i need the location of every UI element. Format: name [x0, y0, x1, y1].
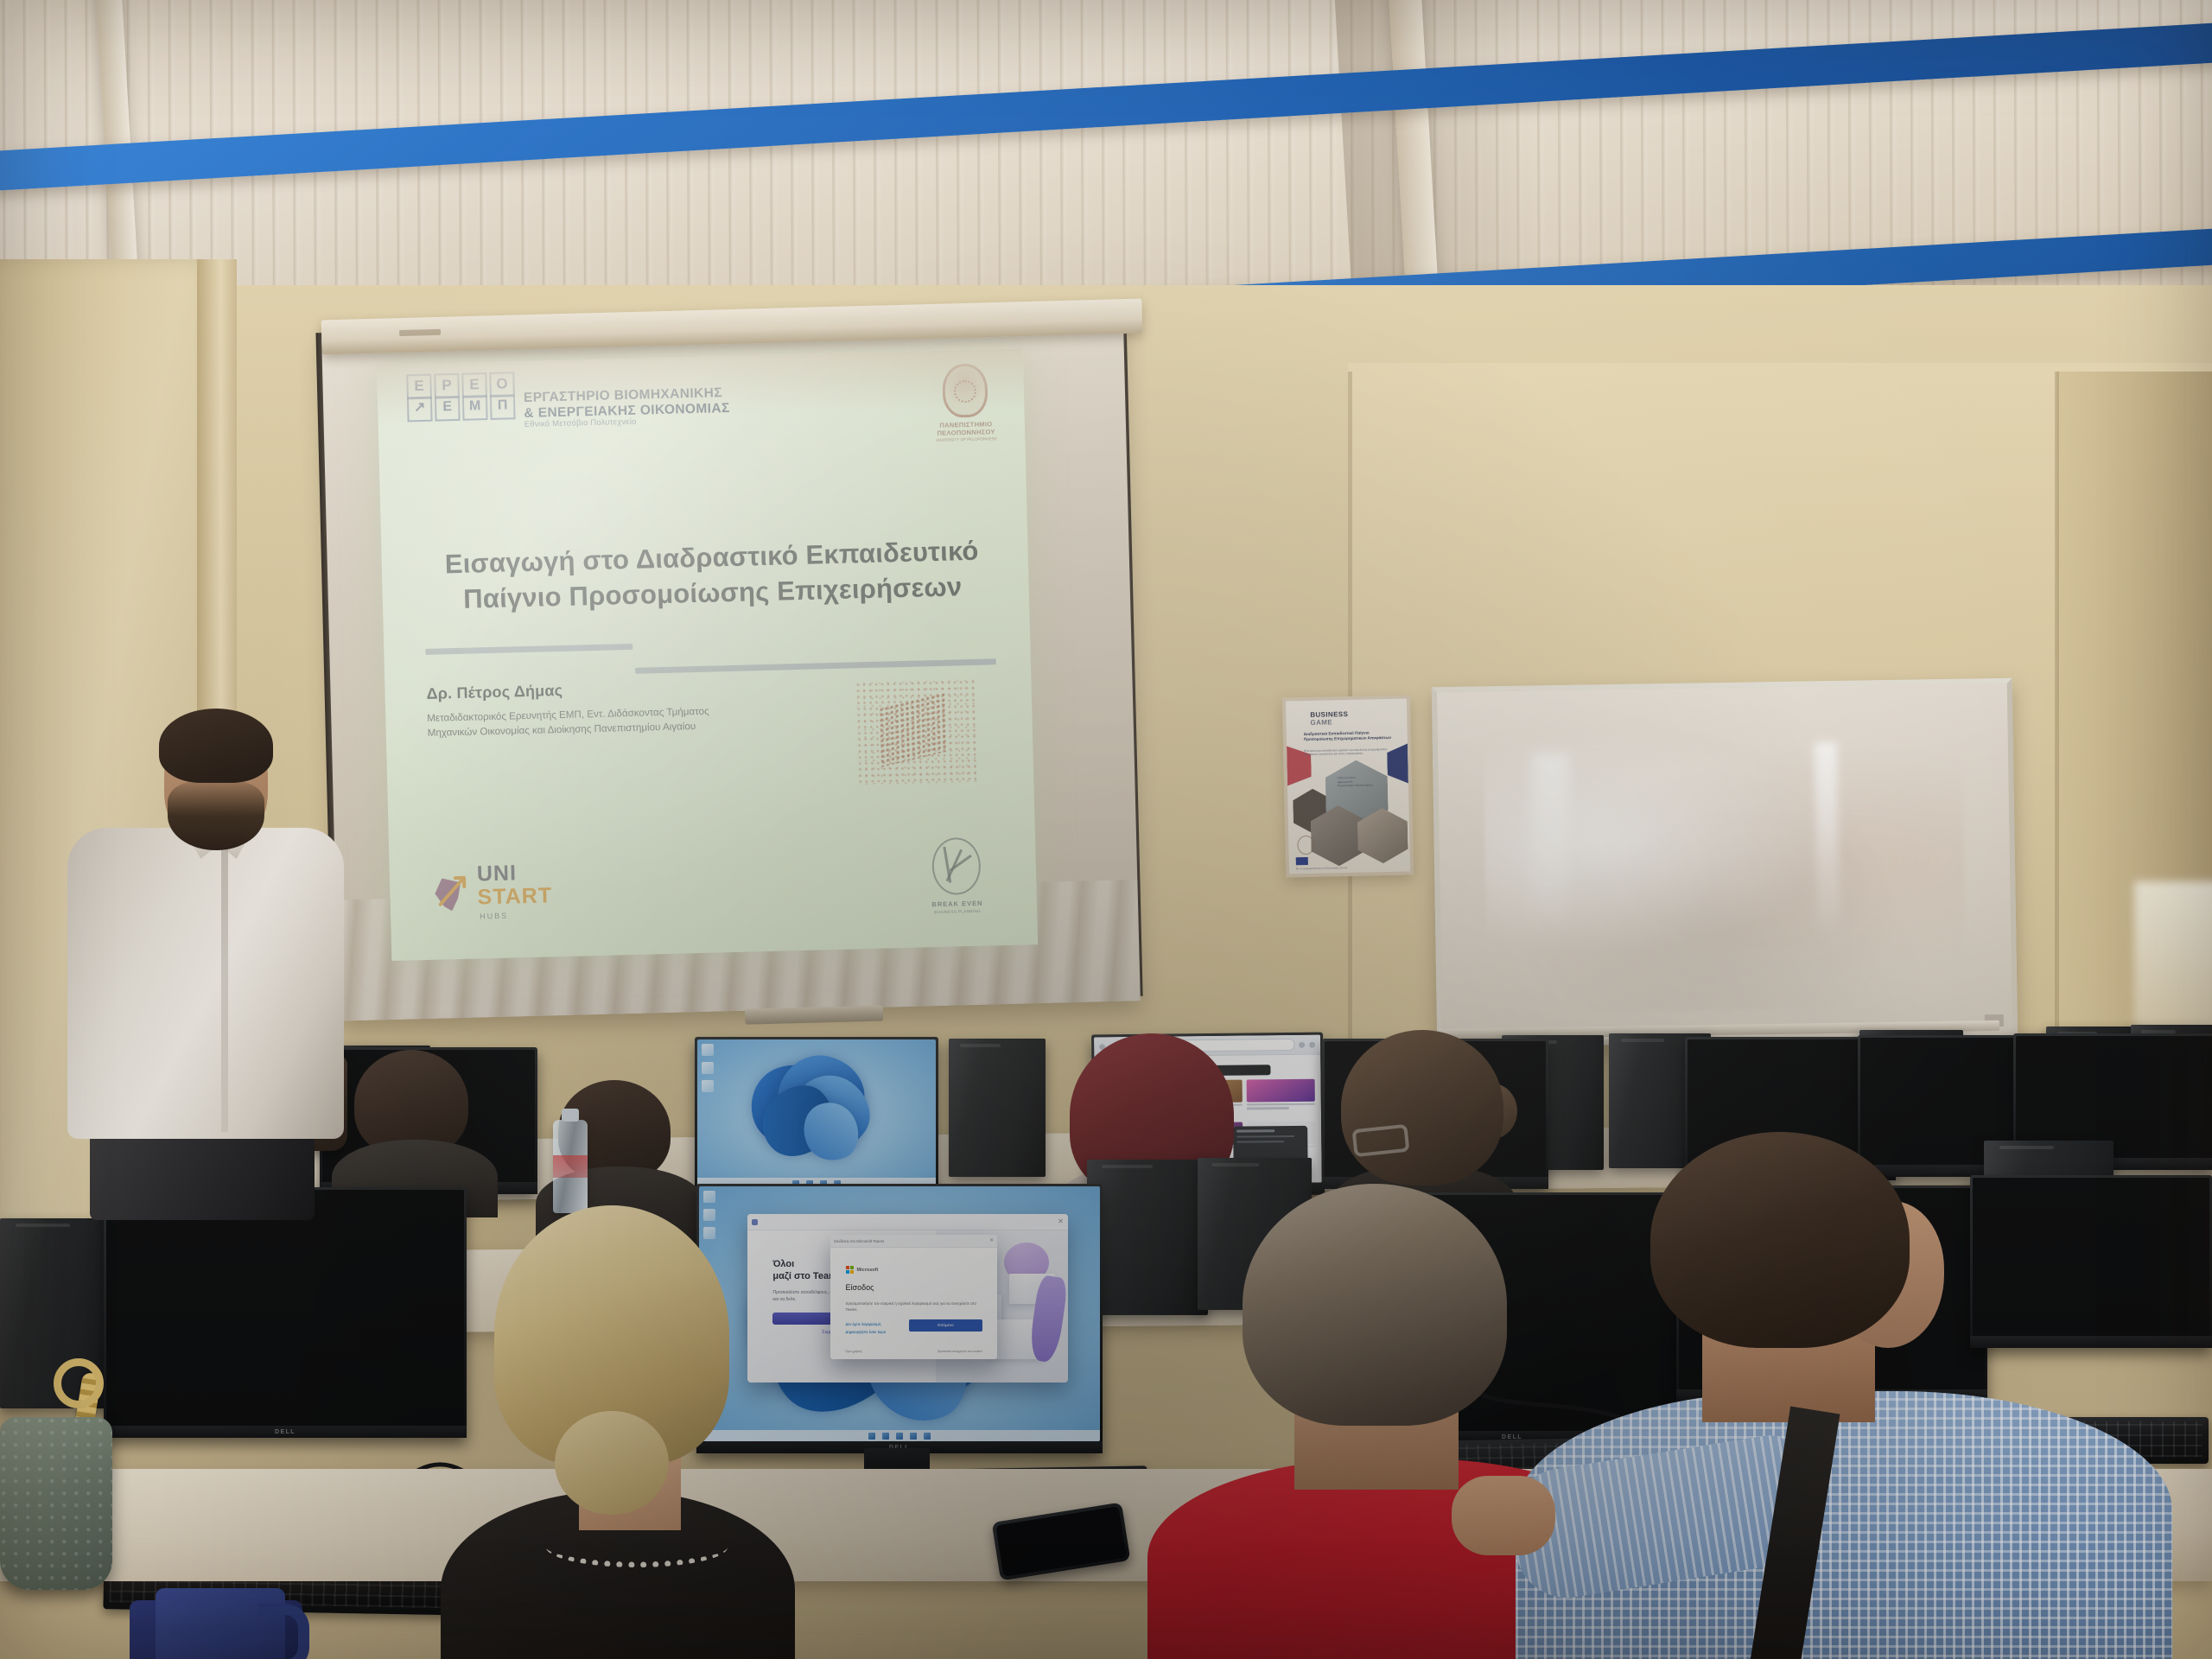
slide-author: Δρ. Πέτρος Δήμας [426, 682, 563, 703]
unistart-logo: UNI START HUBS [431, 861, 553, 922]
dialog-footer-privacy[interactable]: Προστασία απορρήτου και cookies [938, 1350, 982, 1353]
hair [1243, 1184, 1507, 1426]
poster-eu-flag-icon [1296, 857, 1308, 865]
monitor-screen[interactable] [697, 1039, 936, 1189]
poster-title-line2: GAME [1310, 718, 1348, 727]
dialog-footer-terms[interactable]: Όροι χρήσης [846, 1350, 862, 1353]
video-card[interactable] [1246, 1078, 1315, 1117]
presentation-slide: E P E O ↗ Ε Μ Π ΕΡΓΑΣΤΗΡΙΟ ΒΙ [377, 348, 1038, 961]
microsoft-logo: Microsoft [846, 1266, 982, 1274]
presenter-beard [168, 781, 264, 850]
slide-header: E P E O ↗ Ε Μ Π ΕΡΓΑΣΤΗΡΙΟ ΒΙ [406, 359, 961, 433]
unistart-arrow-icon [436, 874, 470, 908]
pearl-necklace [546, 1527, 728, 1567]
handbag-ring [54, 1358, 104, 1408]
whiteboard-glare-right [1814, 742, 1840, 941]
teams-window[interactable]: ✕ Όλοι μαζί στο Teams Προσκαλέστε συναδέ… [747, 1214, 1068, 1382]
poster-body-text: Ένα καινοτόμο εκπαιδευτικό εργαλείο προσ… [1304, 747, 1389, 757]
poster-greek-heading: Διαδραστικό Εκπαιδευτικό Παίγνιο Προσομο… [1304, 730, 1395, 743]
hair [1650, 1132, 1910, 1348]
slide-rule-long [635, 658, 996, 674]
dialog-title: Σύνδεση στο Microsoft Teams [834, 1239, 884, 1243]
presenter-hair [159, 709, 273, 783]
student-blue-check-shirt [1547, 1132, 2152, 1659]
desktop-icons[interactable] [702, 1044, 714, 1092]
presenter [52, 717, 354, 1218]
poster-footer: Με τη συγχρηματοδότηση της Ευρωπαϊκής Έν… [1296, 865, 1403, 870]
wall-seam-right [2055, 372, 2059, 1141]
ntua-letter-1: Μ [462, 395, 488, 421]
unistart-word-hubs: HUBS [480, 911, 553, 920]
poster-meta-3: Πανεπιστήμιο Πελοποννήσου [1338, 783, 1398, 788]
dotted-cube-graphic [856, 680, 980, 785]
monitor-brand: DELL [275, 1429, 296, 1435]
handbag [0, 1417, 112, 1590]
wall-poster: BUSINESS GAME Διαδραστικό Εκπαιδευτικό Π… [1282, 695, 1414, 877]
unistart-word-start: START [477, 885, 552, 908]
student-blonde [449, 1205, 778, 1659]
glasses-icon [1352, 1124, 1410, 1158]
hair-bun [555, 1411, 669, 1515]
slide-rule-short [425, 644, 632, 655]
projection-screen: E P E O ↗ Ε Μ Π ΕΡΓΑΣΤΗΡΙΟ ΒΙ [321, 318, 1141, 1020]
cookie-popup-title [1236, 1129, 1274, 1132]
monitor-windows-desktop[interactable]: DELL [695, 1037, 938, 1201]
breakeven-circle-icon [931, 837, 982, 895]
student-dark-hair-1 [346, 1050, 475, 1188]
microsoft-squares-icon [846, 1266, 854, 1274]
ntua-letter-0: Ε [435, 396, 461, 422]
unistart-figure-icon [431, 871, 470, 915]
dialog-body: Χρησιμοποιήστε τον εταιρικό ή σχολικό λο… [846, 1300, 982, 1313]
poster-meta: Τρίτη 3 Ιουνίου Αίθουσα Η/Υ Πανεπιστήμιο… [1338, 775, 1398, 788]
breakeven-subtitle: BUSINESS PLANNING [916, 908, 999, 914]
ntua-letter-2: Π [490, 394, 516, 420]
dialog-close-icon[interactable]: ✕ [989, 1238, 994, 1243]
teams-taskbar-icon [910, 1433, 917, 1440]
ntua-logo-mark: ↗ Ε Μ Π [407, 394, 516, 422]
windows11-wallpaper [697, 1039, 936, 1189]
hair [1341, 1030, 1503, 1185]
screen-housing-bracket [399, 329, 441, 336]
menu-icon[interactable] [1309, 1041, 1315, 1047]
pc-tower [949, 1039, 1046, 1177]
slide-affiliation: Μεταδιδακτορικός Ερευνητής ΕΜΠ, Εντ. Διδ… [427, 702, 799, 741]
microsoft-signin-dialog[interactable]: Σύνδεση στο Microsoft Teams ✕ Microsoft … [830, 1235, 997, 1359]
monitor-off[interactable]: DELL [104, 1187, 467, 1438]
breakeven-name: BREAK EVEN [916, 899, 999, 908]
search-icon [882, 1433, 889, 1440]
poster-title: BUSINESS GAME [1310, 710, 1348, 727]
uop-subtitle: UNIVERSITY OF PELOPONNESE [926, 436, 1006, 443]
this-pc-icon [702, 1062, 714, 1074]
recycle-bin-icon [702, 1044, 714, 1056]
dialog-heading: Είσοδος [846, 1283, 982, 1292]
uop-seal-icon [942, 363, 988, 417]
presenter-shirt-placket [221, 847, 228, 1132]
bloom-graphic [742, 1053, 890, 1170]
slide-title: Εισαγωγή στο Διαδραστικό Εκπαιδευτικό Πα… [435, 532, 989, 618]
breakeven-logo: BREAK EVEN BUSINESS PLANNING [914, 836, 999, 914]
dialog-next-button[interactable]: Επόμενο [909, 1319, 982, 1332]
whiteboard-glare-left [1529, 753, 1568, 936]
uop-name: ΠΑΝΕΠΙΣΤΗΜΙΟ ΠΕΛΟΠΟΝΝΗΣΟΥ [926, 420, 1006, 437]
unistart-word-uni: UNI [477, 861, 552, 885]
shortcut-icon [702, 1080, 714, 1092]
poster-title-line1: BUSINESS [1310, 710, 1348, 719]
classroom-photo-scene: E P E O ↗ Ε Μ Π ΕΡΓΑΣΤΗΡΙΟ ΒΙ [0, 0, 2212, 1659]
blue-mug [156, 1588, 285, 1659]
start-icon [868, 1433, 875, 1440]
water-bottle [553, 1120, 588, 1213]
teams-title-bar[interactable]: ✕ [747, 1214, 1068, 1230]
explorer-icon [896, 1433, 903, 1440]
dialog-title-bar: Σύνδεση στο Microsoft Teams ✕ [830, 1235, 997, 1248]
microsoft-wordmark: Microsoft [857, 1268, 879, 1273]
recycle-bin-icon [703, 1191, 715, 1203]
ntua-arrow-icon: ↗ [407, 397, 433, 423]
hand [1452, 1476, 1555, 1555]
profile-icon[interactable] [1299, 1041, 1305, 1047]
whiteboard [1432, 678, 2018, 1048]
uop-logo: ΠΑΝΕΠΙΣΤΗΜΙΟ ΠΕΛΟΠΟΝΝΗΣΟΥ UNIVERSITY OF … [925, 363, 1006, 443]
close-icon[interactable]: ✕ [1058, 1218, 1064, 1225]
edge-icon [924, 1433, 931, 1440]
pc-tower [1087, 1160, 1208, 1315]
presenter-shirt [67, 828, 344, 1139]
